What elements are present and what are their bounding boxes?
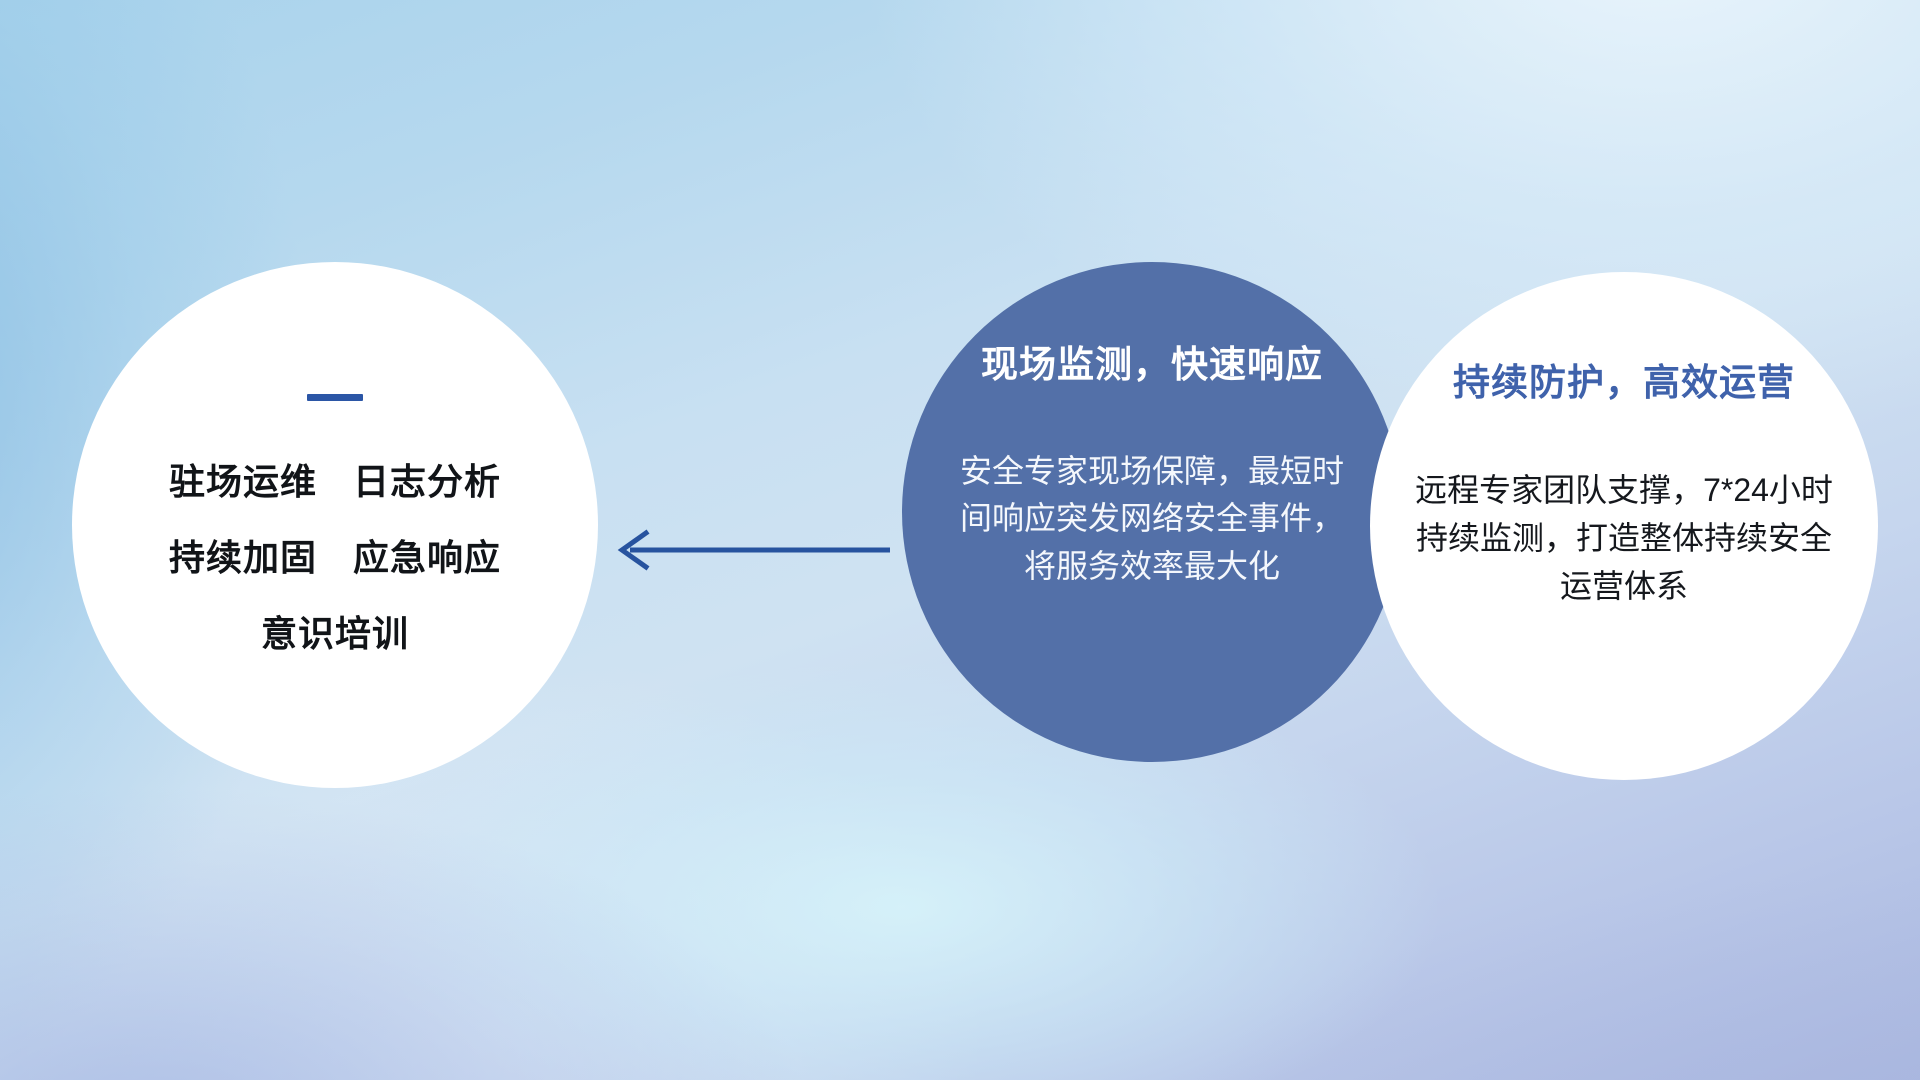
continuous-protection-body: 远程专家团队支撑，7*24小时持续监测，打造整体持续安全运营体系	[1414, 466, 1834, 610]
capability-tag-list: 驻场运维 日志分析 持续加固 应急响应 意识培训	[169, 453, 501, 657]
capability-tag: 持续加固	[169, 529, 317, 581]
capability-tag-row: 意识培训	[261, 605, 409, 657]
slide-canvas: 驻场运维 日志分析 持续加固 应急响应 意识培训 现场监测，快速响应 安全专家现…	[0, 0, 1920, 1080]
onsite-monitoring-circle: 现场监测，快速响应 安全专家现场保障，最短时间响应突发网络安全事件，将服务效率最…	[902, 262, 1402, 762]
onsite-monitoring-body: 安全专家现场保障，最短时间响应突发网络安全事件，将服务效率最大化	[957, 448, 1347, 590]
continuous-protection-circle: 持续防护，高效运营 远程专家团队支撑，7*24小时持续监测，打造整体持续安全运营…	[1370, 272, 1878, 780]
capability-tag-row: 持续加固 应急响应	[169, 529, 501, 581]
capability-tag-row: 驻场运维 日志分析	[169, 453, 501, 505]
capability-tag: 日志分析	[353, 453, 501, 505]
onsite-monitoring-title: 现场监测，快速响应	[981, 334, 1323, 388]
capabilities-circle: 驻场运维 日志分析 持续加固 应急响应 意识培训	[72, 262, 598, 788]
capability-tag: 驻场运维	[169, 453, 317, 505]
capability-tag: 应急响应	[353, 529, 501, 581]
capability-tag: 意识培训	[261, 605, 409, 657]
continuous-protection-title: 持续防护，高效运营	[1453, 352, 1795, 406]
accent-dash-icon	[307, 394, 363, 401]
left-pointing-arrow-icon	[600, 525, 890, 575]
